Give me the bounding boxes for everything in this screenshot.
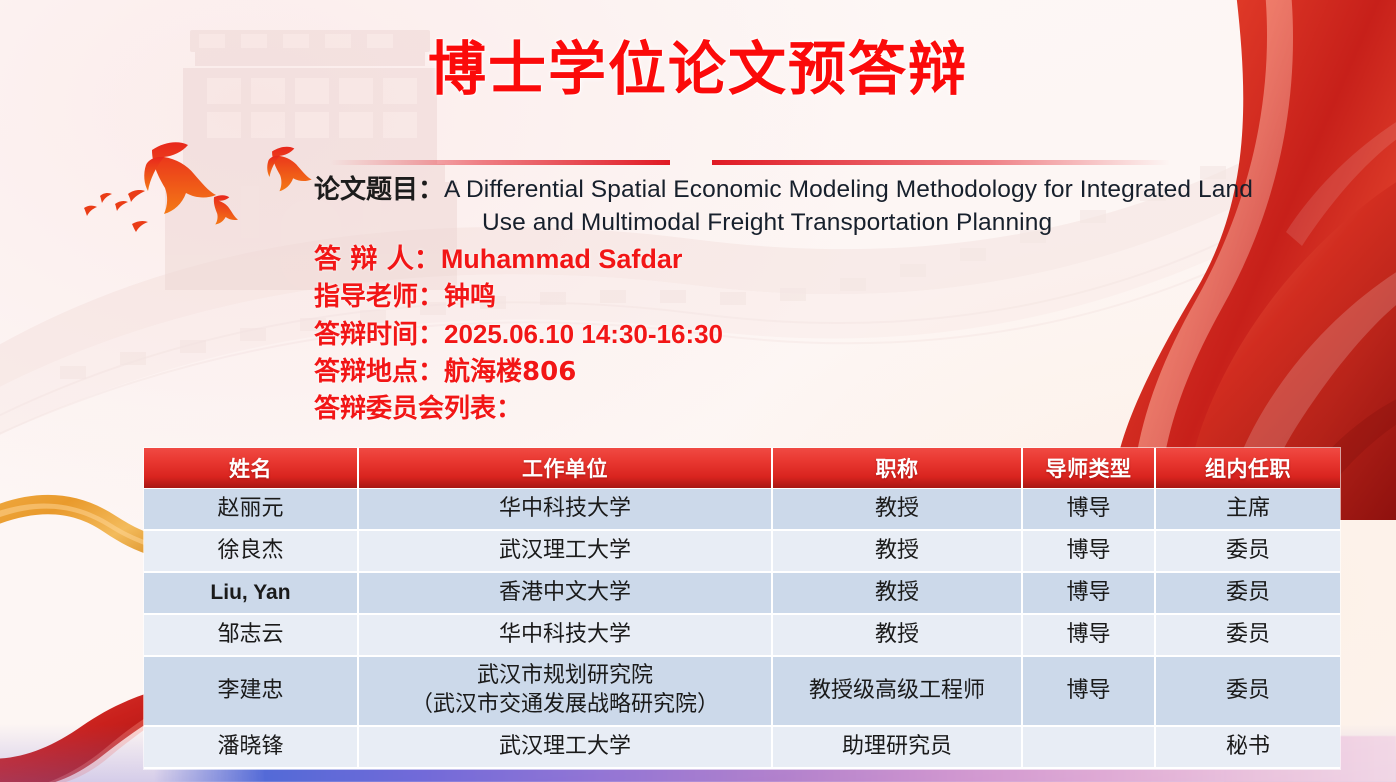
cell-group-role: 委员 [1155,656,1340,726]
title-divider [330,160,1170,166]
time-row: 答辩时间：2025.06.10 14:30-16:30 [314,316,1304,354]
table-row: 李建忠 武汉市规划研究院 （武汉市交通发展战略研究院） 教授级高级工程师 博导 … [144,656,1340,726]
cell-advisor-type [1022,726,1155,768]
cell-affiliation: 武汉理工大学 [358,726,772,768]
table-row: 赵丽元 华中科技大学 教授 博导 主席 [144,488,1340,530]
cell-rank: 教授级高级工程师 [772,656,1022,726]
cell-rank: 教授 [772,488,1022,530]
cell-affiliation: 华中科技大学 [358,614,772,656]
table-row: 邹志云 华中科技大学 教授 博导 委员 [144,614,1340,656]
flying-doves-icon [60,112,330,247]
time-label: 答辩时间： [314,320,444,350]
cell-rank: 教授 [772,572,1022,614]
defense-info-block: 论文题目： A Differential Spatial Economic Mo… [314,174,1304,428]
cell-group-role: 委员 [1155,530,1340,572]
place-value: 航海楼806 [444,357,576,387]
cell-affiliation: 武汉市规划研究院 （武汉市交通发展战略研究院） [358,656,772,726]
column-header-rank: 职称 [772,448,1022,488]
cell-name: 徐良杰 [144,530,358,572]
presenter-label: 答 辩 人： [314,244,441,275]
thesis-title-label: 论文题目： [314,174,444,207]
cell-advisor-type: 博导 [1022,530,1155,572]
divider-segment-right [712,160,1170,165]
page-title: 博士学位论文预答辩 [0,38,1396,102]
cell-name: 李建忠 [144,656,358,726]
cell-group-role: 秘书 [1155,726,1340,768]
advisor-row: 指导老师：钟鸣 [314,279,1304,316]
thesis-title-value: A Differential Spatial Economic Modeling… [444,174,1253,240]
cell-affiliation: 华中科技大学 [358,488,772,530]
place-row: 答辩地点：航海楼806 [314,354,1304,391]
column-header-advisor-type: 导师类型 [1022,448,1155,488]
advisor-label: 指导老师： [314,282,444,312]
advisor-value: 钟鸣 [444,282,496,312]
cell-affiliation-line2: （武汉市交通发展战略研究院） [359,691,771,720]
cell-group-role: 委员 [1155,614,1340,656]
committee-label-text: 答辩委员会列表： [314,394,522,424]
cell-affiliation: 武汉理工大学 [358,530,772,572]
table-header-row: 姓名 工作单位 职称 导师类型 组内任职 [144,448,1340,488]
divider-segment-left [330,160,670,165]
table-row: Liu, Yan 香港中文大学 教授 博导 委员 [144,572,1340,614]
column-header-affiliation: 工作单位 [358,448,772,488]
presentation-slide: 博士学位论文预答辩 论文题目： A Differential Spatial E… [0,0,1396,782]
thesis-title-line1: A Differential Spatial Economic Modeling… [444,176,1253,203]
presenter-row: 答 辩 人：Muhammad Safdar [314,240,1304,279]
cell-advisor-type: 博导 [1022,572,1155,614]
cell-rank: 教授 [772,530,1022,572]
cell-rank: 教授 [772,614,1022,656]
column-header-group-role: 组内任职 [1155,448,1340,488]
table-row: 潘晓锋 武汉理工大学 助理研究员 秘书 [144,726,1340,768]
table-row: 徐良杰 武汉理工大学 教授 博导 委员 [144,530,1340,572]
committee-list-label: 答辩委员会列表： [314,391,1304,428]
cell-name: 邹志云 [144,614,358,656]
column-header-name: 姓名 [144,448,358,488]
cell-name: 潘晓锋 [144,726,358,768]
cell-advisor-type: 博导 [1022,614,1155,656]
thesis-title-row: 论文题目： A Differential Spatial Economic Mo… [314,174,1304,240]
thesis-title-line2: Use and Multimodal Freight Transportatio… [444,207,1253,240]
cell-group-role: 主席 [1155,488,1340,530]
time-value: 2025.06.10 14:30-16:30 [444,319,723,349]
cell-rank: 助理研究员 [772,726,1022,768]
cell-name: Liu, Yan [144,572,358,614]
cell-group-role: 委员 [1155,572,1340,614]
cell-name: 赵丽元 [144,488,358,530]
cell-affiliation: 香港中文大学 [358,572,772,614]
cell-advisor-type: 博导 [1022,488,1155,530]
place-label: 答辩地点： [314,357,444,387]
committee-table: 姓名 工作单位 职称 导师类型 组内任职 赵丽元 华中科技大学 教授 博导 主席… [144,448,1340,769]
presenter-value: Muhammad Safdar [441,244,683,274]
cell-advisor-type: 博导 [1022,656,1155,726]
cell-affiliation-line1: 武汉市规划研究院 [359,662,771,691]
